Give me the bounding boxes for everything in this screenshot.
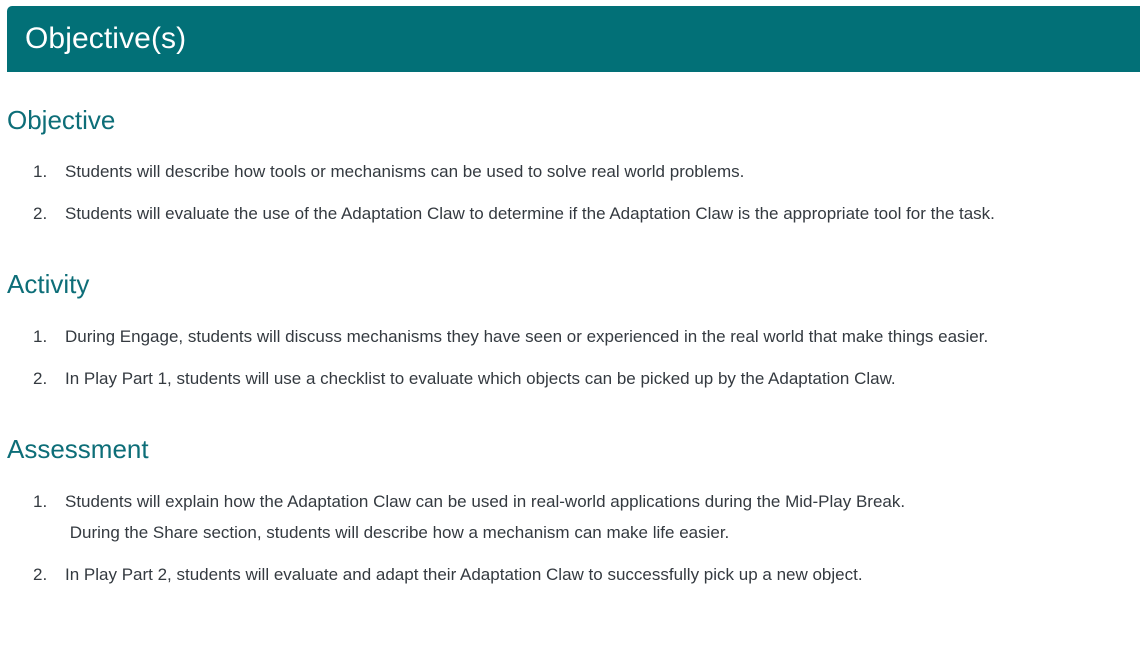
list-item: 1. Students will explain how the Adaptat… (0, 486, 1140, 548)
list-item: 1. During Engage, students will discuss … (0, 321, 1140, 352)
list-marker: 1. (33, 156, 55, 187)
list-item-text: Students will describe how tools or mech… (65, 156, 1112, 187)
section-objective: Objective 1. Students will describe how … (0, 105, 1140, 229)
assessment-list: 1. Students will explain how the Adaptat… (0, 486, 1140, 590)
list-item-text: Students will explain how the Adaptation… (65, 486, 1112, 548)
banner-title: Objective(s) (7, 24, 186, 54)
list-item-text: In Play Part 1, students will use a chec… (65, 363, 1112, 394)
list-marker: 1. (33, 486, 55, 517)
list-marker: 2. (33, 559, 55, 590)
content-area: Objective 1. Students will describe how … (0, 72, 1140, 590)
objective-list: 1. Students will describe how tools or m… (0, 156, 1140, 229)
section-assessment: Assessment 1. Students will explain how … (0, 434, 1140, 589)
list-item: 2. Students will evaluate the use of the… (0, 198, 1140, 229)
lesson-plan-page: Objective(s) Objective 1. Students will … (0, 0, 1140, 669)
section-activity: Activity 1. During Engage, students will… (0, 269, 1140, 394)
list-marker: 1. (33, 321, 55, 352)
list-item-text: Students will evaluate the use of the Ad… (65, 198, 1112, 229)
list-item-text: In Play Part 2, students will evaluate a… (65, 559, 1112, 590)
list-item: 2. In Play Part 1, students will use a c… (0, 363, 1140, 394)
list-marker: 2. (33, 363, 55, 394)
list-item-text: During Engage, students will discuss mec… (65, 321, 1112, 352)
section-heading-objective: Objective (0, 105, 1140, 136)
objectives-banner: Objective(s) (7, 6, 1140, 72)
section-heading-activity: Activity (0, 269, 1140, 300)
activity-list: 1. During Engage, students will discuss … (0, 321, 1140, 394)
list-item: 1. Students will describe how tools or m… (0, 156, 1140, 187)
section-heading-assessment: Assessment (0, 434, 1140, 465)
list-item: 2. In Play Part 2, students will evaluat… (0, 559, 1140, 590)
list-marker: 2. (33, 198, 55, 229)
